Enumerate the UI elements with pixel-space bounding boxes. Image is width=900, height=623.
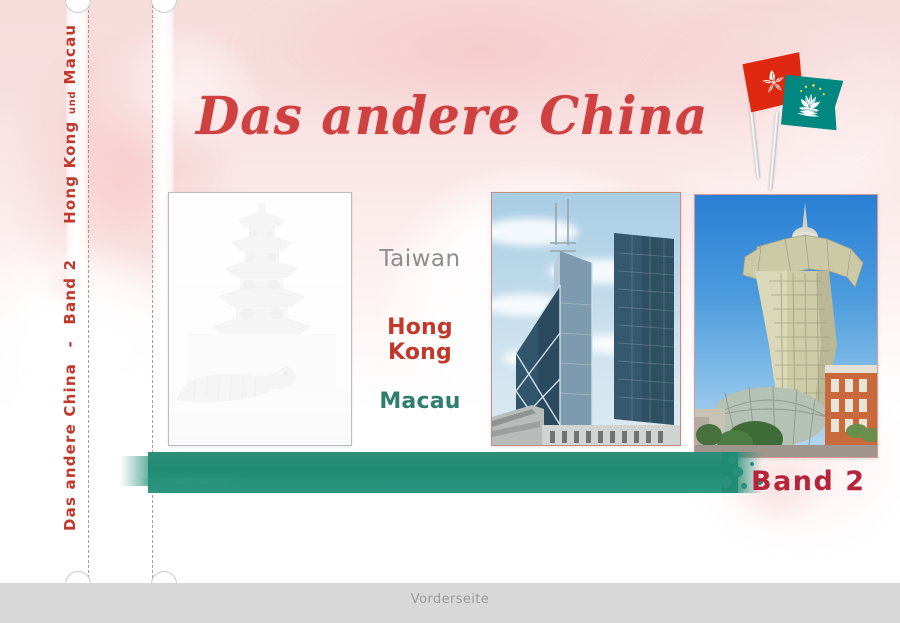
volume-badge: Band 2 [751,466,866,497]
spine-separator: - [61,331,79,356]
spine-volume: Band 2 [61,259,79,325]
lotus-icon [792,90,827,120]
preview-footer-bar: Vorderseite [0,583,900,623]
macau-flag-field [779,73,844,133]
spine-subtitle-connector: und [67,91,78,114]
word-taiwan: Taiwan [355,246,485,272]
flags-group [735,52,860,157]
bank-of-china-tower-illustration [492,193,680,445]
macau-grandlisboa-photo [694,194,878,458]
green-banner [148,452,738,493]
spine-subtitle-tail: Macau [61,24,79,85]
grand-lisboa-illustration [695,195,877,457]
spine-text: Das andere China - Band 2 Hong Kong und … [61,111,79,531]
footer-label: Vorderseite [0,592,900,607]
region-word-stack: Taiwan Hong Kong Macau [355,246,485,414]
word-hong-kong: Hong Kong [355,315,485,365]
spine-title: Das andere China [61,363,79,531]
hongkong-skyline-photo [491,192,681,446]
cover-preview-stage: Das andere China - Band 2 Hong Kong und … [0,0,900,623]
banner-brush-streak [140,478,260,484]
flag-pole-icon [748,100,760,178]
taiwan-pagoda-photo [168,192,352,446]
spine-subtitle-main: Hong Kong [61,121,79,224]
spine-fold-dashed-line-right [152,0,153,583]
flag-pole-icon [769,112,780,190]
word-macau: Macau [355,389,485,414]
spine-fold-dashed-line-left [88,0,89,583]
cover-main-title: Das andere China [196,85,736,147]
cover-paper: Das andere China - Band 2 Hong Kong und … [0,0,900,583]
